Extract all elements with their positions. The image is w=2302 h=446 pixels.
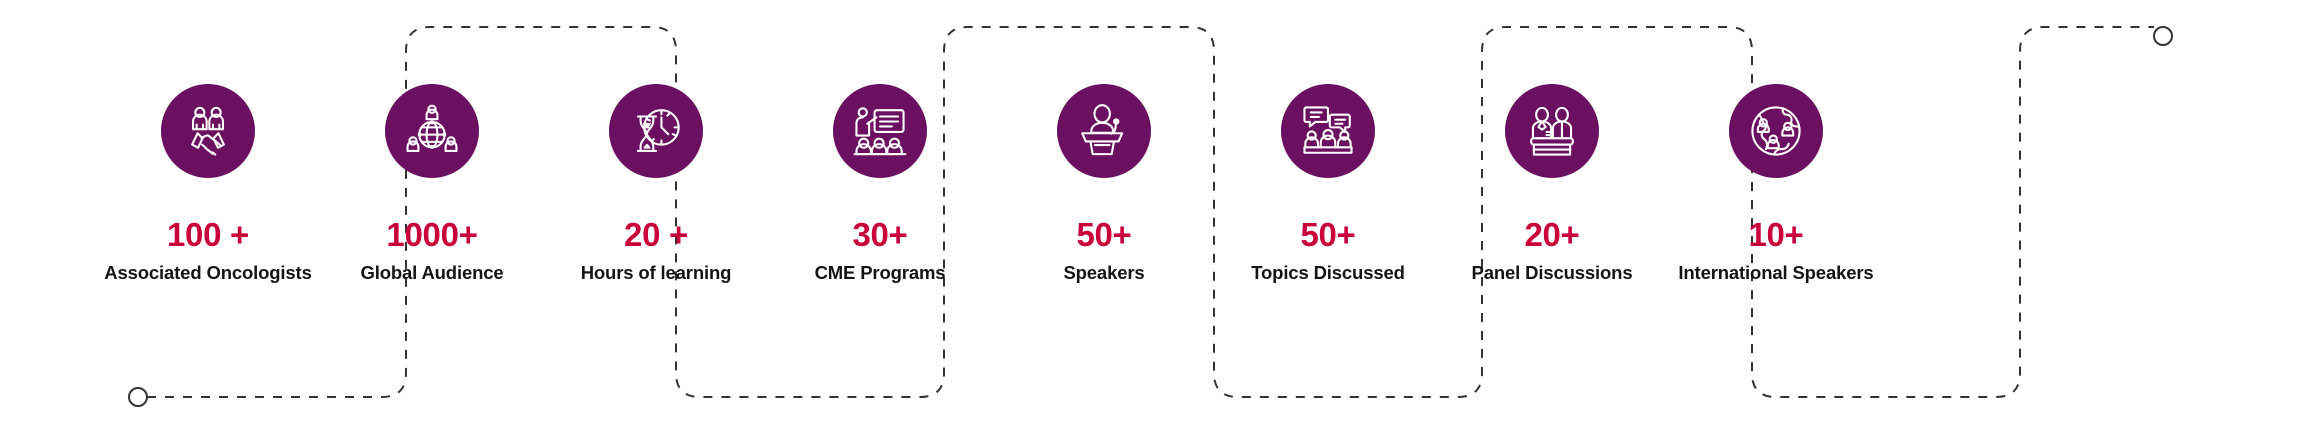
stat-label: Topics Discussed	[1251, 262, 1405, 283]
stat-value: 1000+	[386, 218, 477, 251]
stat-label: Global Audience	[360, 262, 503, 283]
stat-value: 20+	[1524, 218, 1579, 251]
podium-speaker-microphone-icon	[1057, 84, 1151, 178]
handshake-two-people-icon	[161, 84, 255, 178]
stat-value: 100 +	[167, 218, 249, 251]
stat-label: Speakers	[1063, 262, 1144, 283]
stat-item-panel-discussions[interactable]: 20+ Panel Discussions	[1440, 0, 1664, 283]
globe-with-avatars-icon	[1729, 84, 1823, 178]
stat-value: 10+	[1748, 218, 1803, 251]
speech-bubbles-panel-icon	[1281, 84, 1375, 178]
stat-item-cme-programs[interactable]: 30+ CME Programs	[768, 0, 992, 283]
stat-value: 20 +	[624, 218, 688, 251]
stat-value: 50+	[1076, 218, 1131, 251]
globe-network-people-icon	[385, 84, 479, 178]
stat-label: Associated Oncologists	[104, 262, 311, 283]
infographic-stage: 100 + Associated Oncologists	[0, 0, 2302, 446]
stats-row: 100 + Associated Oncologists	[0, 0, 2302, 446]
stat-label: CME Programs	[815, 262, 946, 283]
stat-item-speakers[interactable]: 50+ Speakers	[992, 0, 1216, 283]
stat-item-topics-discussed[interactable]: 50+ Topics Discussed	[1216, 0, 1440, 283]
two-people-at-table-icon	[1505, 84, 1599, 178]
presenter-whiteboard-audience-icon	[833, 84, 927, 178]
stat-label: Hours of learning	[581, 262, 732, 283]
hourglass-clock-icon	[609, 84, 703, 178]
stat-label: International Speakers	[1678, 262, 1873, 283]
stat-label: Panel Discussions	[1472, 262, 1633, 283]
stat-value: 30+	[852, 218, 907, 251]
stat-item-associated-oncologists[interactable]: 100 + Associated Oncologists	[96, 0, 320, 283]
stat-item-hours-of-learning[interactable]: 20 + Hours of learning	[544, 0, 768, 283]
stat-item-global-audience[interactable]: 1000+ Global Audience	[320, 0, 544, 283]
stat-value: 50+	[1300, 218, 1355, 251]
stat-item-international-speakers[interactable]: 10+ International Speakers	[1664, 0, 1888, 283]
